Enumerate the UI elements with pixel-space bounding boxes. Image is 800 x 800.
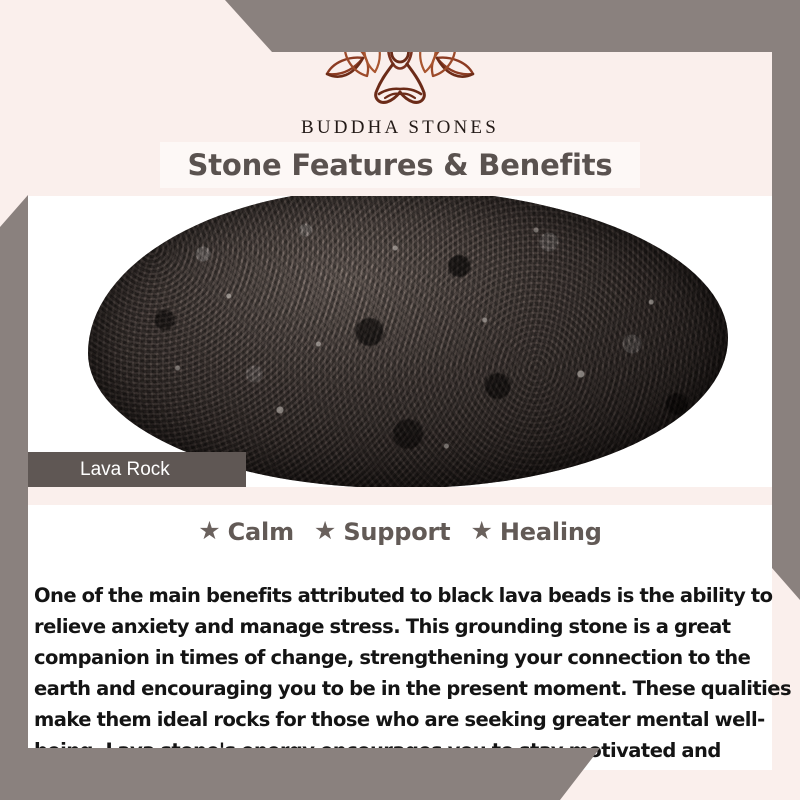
photo-caption: Lava Rock (28, 452, 246, 488)
benefit-label: Healing (500, 518, 602, 546)
benefit-label: Calm (228, 518, 294, 546)
photo-divider (28, 487, 772, 505)
benefit-label: Support (343, 518, 450, 546)
photo-caption-label: Lava Rock (80, 459, 170, 481)
benefits-row: ★ Calm ★ Support ★ Healing (28, 518, 772, 546)
benefit-calm: ★ Calm (198, 518, 294, 546)
title-banner: Stone Features & Benefits (160, 142, 640, 188)
page-title: Stone Features & Benefits (188, 148, 613, 182)
star-icon: ★ (198, 519, 220, 544)
body-paragraph: One of the main benefits attributed to b… (34, 580, 794, 797)
brand-name: BUDDHA STONES (0, 117, 800, 139)
lotus-meditation-icon (0, 18, 800, 115)
lava-rock-image (88, 196, 728, 487)
brand-logo: BUDDHA STONES (0, 18, 800, 139)
frame-band-left (0, 195, 28, 800)
star-icon: ★ (470, 519, 492, 544)
star-icon: ★ (314, 519, 336, 544)
rock-edge-shadow (88, 196, 728, 487)
header-section: BUDDHA STONES Stone Features & Benefits (0, 0, 800, 196)
lava-rock-photo (28, 196, 772, 487)
content-panel: ★ Calm ★ Support ★ Healing One of the ma… (28, 505, 772, 770)
infographic-page: BUDDHA STONES Stone Features & Benefits … (0, 0, 800, 800)
bottom-strip (0, 770, 800, 800)
benefit-healing: ★ Healing (470, 518, 601, 546)
benefit-support: ★ Support (314, 518, 451, 546)
